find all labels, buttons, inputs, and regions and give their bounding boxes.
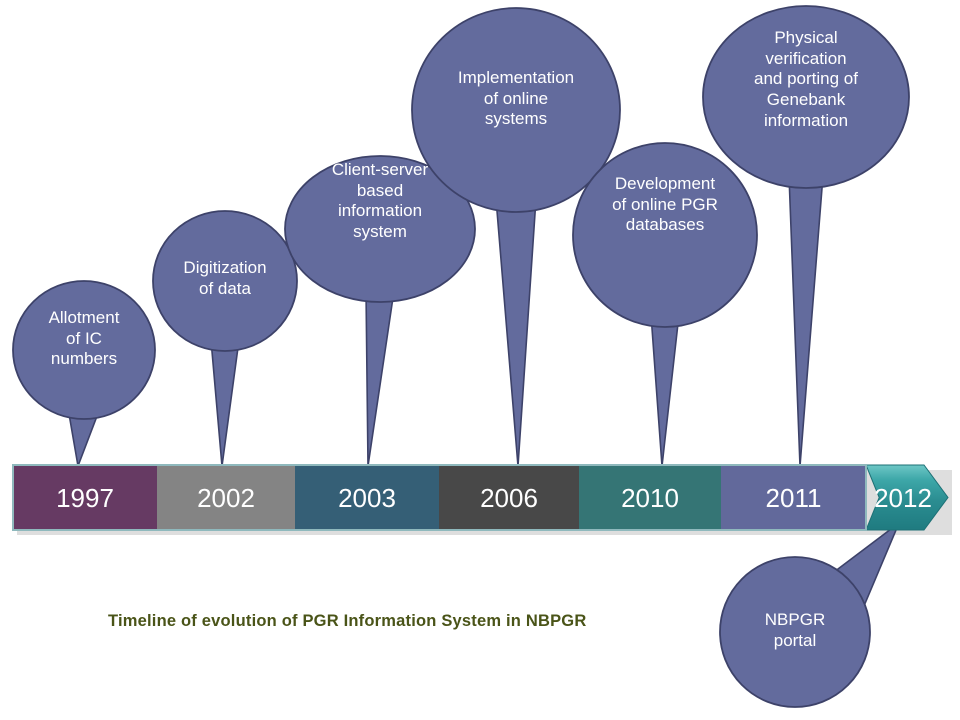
bubble-2010[interactable] (573, 143, 757, 327)
bubble-tail-2011 (789, 176, 823, 466)
bubble-2002[interactable] (153, 211, 297, 351)
bubble-2012[interactable] (720, 557, 870, 707)
timeline-segment-2010[interactable] (579, 465, 721, 530)
timeline-segment-2011[interactable] (721, 465, 866, 530)
diagram-caption: Timeline of evolution of PGR Information… (108, 612, 586, 631)
bubble-2006[interactable] (412, 8, 620, 212)
bubble-tail-2006 (496, 199, 536, 466)
bubble-tail-2010 (651, 315, 679, 466)
timeline-diagram-canvas: 1997200220032006201020112012Allotment of… (0, 0, 960, 720)
timeline-segment-1997[interactable] (13, 465, 157, 530)
timeline-segment-2003[interactable] (295, 465, 439, 530)
bubbles-group (13, 6, 909, 707)
bubble-tail-2002 (211, 340, 239, 466)
timeline-segments-group (13, 465, 948, 530)
timeline-segment-2002[interactable] (157, 465, 295, 530)
bubble-tail-2003 (366, 291, 394, 466)
bubble-1997[interactable] (13, 281, 155, 419)
timeline-segment-2006[interactable] (439, 465, 579, 530)
bubble-2011[interactable] (703, 6, 909, 188)
